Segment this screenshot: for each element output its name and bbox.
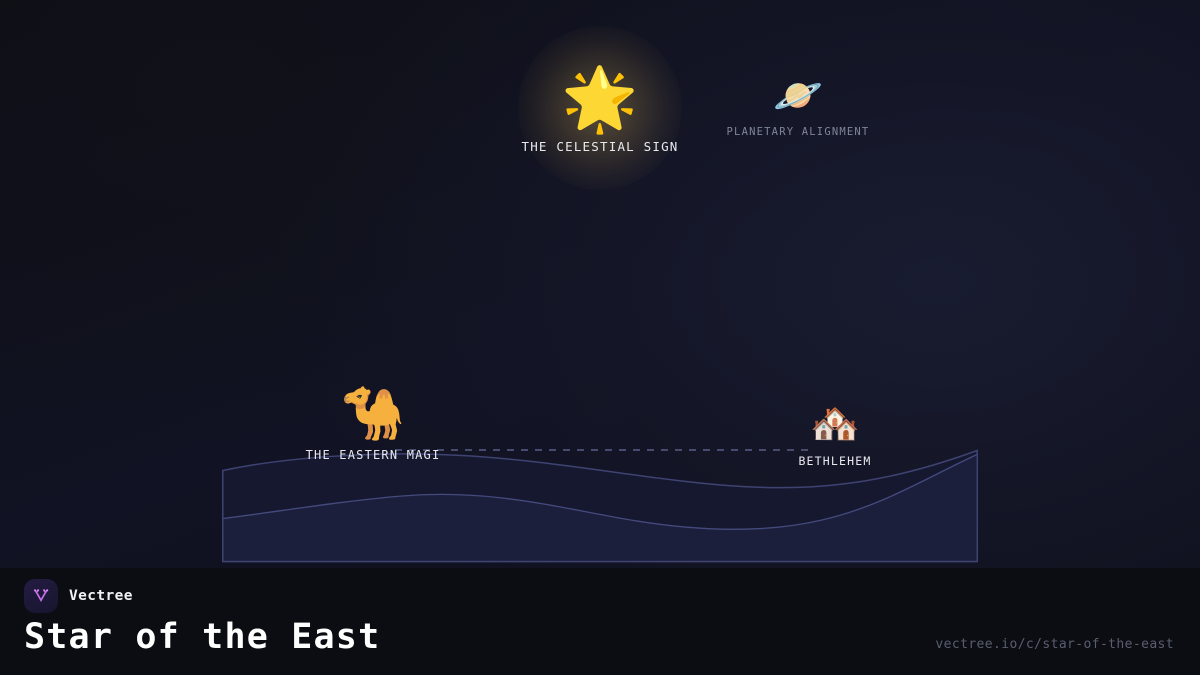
brand-name: Vectree [69,588,133,604]
scene-node-eastern-magi[interactable]: 🐪 THE EASTERN MAGI [306,388,441,462]
glowing-star-icon: 🌟 [561,68,638,130]
dashed-journey-path [395,449,810,451]
footer-bar: Vectree Star of the East vectree.io/c/st… [0,568,1200,675]
scene-illustration: 🌟 THE CELESTIAL SIGN 🪐 PLANETARY ALIGNME… [0,0,1200,568]
houses-icon: 🏘️ [810,404,860,444]
vectree-logo-icon [24,579,58,613]
camel-icon: 🐪 [341,388,406,440]
share-card: 🌟 THE CELESTIAL SIGN 🪐 PLANETARY ALIGNME… [0,0,1200,675]
footer-url: vectree.io/c/star-of-the-east [935,637,1174,652]
scene-node-planetary-alignment[interactable]: 🪐 PLANETARY ALIGNMENT [727,76,870,138]
scene-node-label-bethlehem: BETHLEHEM [798,454,871,468]
scene-node-label-eastern-magi: THE EASTERN MAGI [306,448,441,462]
scene-node-celestial-sign[interactable]: 🌟 THE CELESTIAL SIGN [521,68,678,154]
scene-node-label-planetary-alignment: PLANETARY ALIGNMENT [727,126,870,138]
scene-node-label-celestial-sign: THE CELESTIAL SIGN [521,139,678,154]
ringed-planet-icon: 🪐 [773,76,823,116]
brand-row[interactable]: Vectree [24,579,133,613]
page-title: Star of the East [24,618,380,657]
scene-node-bethlehem[interactable]: 🏘️ BETHLEHEM [798,404,871,468]
